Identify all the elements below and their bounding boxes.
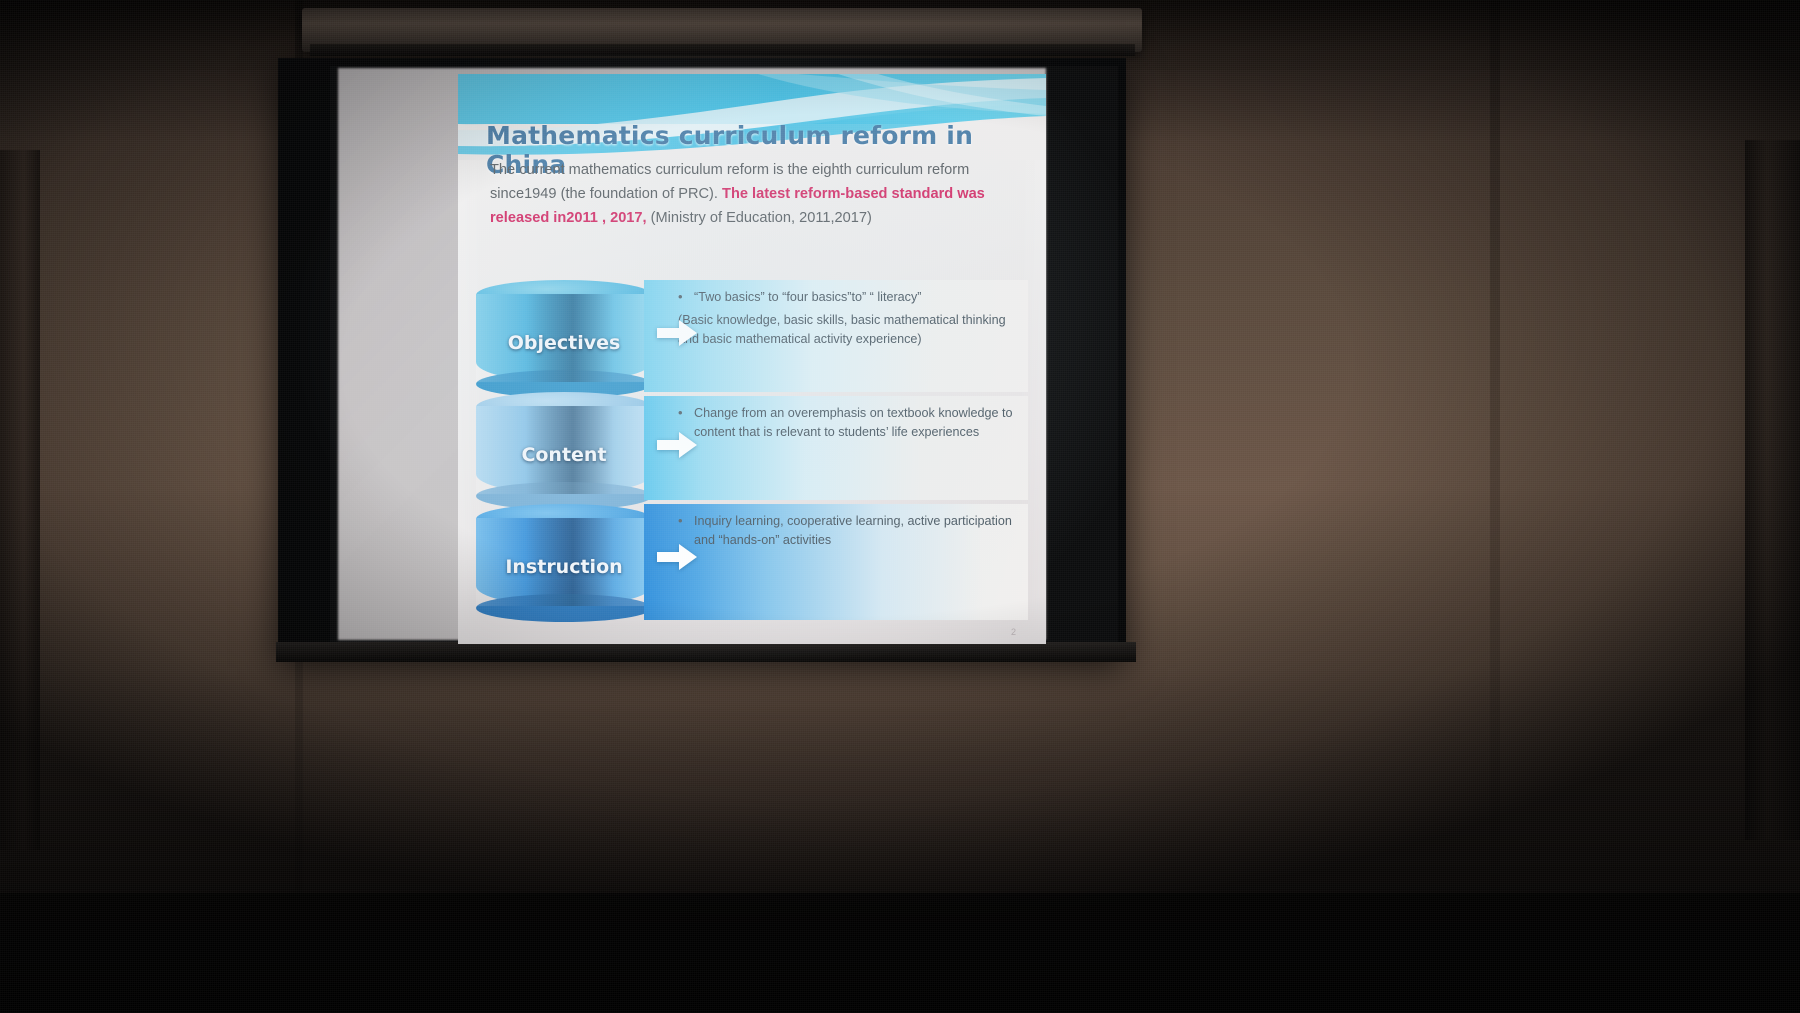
cylinder-instruction: Instruction xyxy=(476,504,652,612)
diagram-row-objectives: Objectives “Two basics” to “four basics”… xyxy=(458,280,1046,398)
presentation-slide: Mathematics curriculum reform in China T… xyxy=(458,74,1046,644)
bullet-item: “Two basics” to “four basics”to” “ liter… xyxy=(678,288,1016,307)
wall-panel-left xyxy=(0,150,40,850)
slide-intro-paragraph: The current mathematics curriculum refor… xyxy=(490,158,1010,230)
right-arrow-icon xyxy=(654,310,700,356)
projector-screen-housing-lip xyxy=(310,44,1135,56)
cylinder-label: Instruction xyxy=(476,556,652,578)
bullet-item: Inquiry learning, cooperative learning, … xyxy=(678,512,1016,550)
text-panel-content: Change from an overemphasis on textbook … xyxy=(644,396,1028,500)
cylinder-content: Content xyxy=(476,392,652,500)
panel-continuation-text: (Basic knowledge, basic skills, basic ma… xyxy=(678,311,1016,349)
bullet-item: Change from an overemphasis on textbook … xyxy=(678,404,1016,442)
diagram-row-instruction: Instruction Inquiry learning, cooperativ… xyxy=(458,504,1046,634)
projection-screen-bottom-bar xyxy=(276,642,1136,662)
cylinder-objectives: Objectives xyxy=(476,280,652,388)
right-arrow-icon xyxy=(654,534,700,580)
right-arrow-icon xyxy=(654,422,700,468)
wall-panel-right xyxy=(1745,140,1800,840)
diagram-row-content: Content Change from an overemphasis on t… xyxy=(458,392,1046,510)
wall-seam-right xyxy=(1490,0,1500,1013)
text-panel-objectives: “Two basics” to “four basics”to” “ liter… xyxy=(644,280,1028,392)
floor-shadow xyxy=(0,893,1800,1013)
cylinder-label: Content xyxy=(476,444,652,466)
projector-room-photo: Mathematics curriculum reform in China T… xyxy=(0,0,1800,1013)
cylinder-label: Objectives xyxy=(476,332,652,354)
slide-number: 2 xyxy=(1011,627,1016,637)
intro-text-part2: (Ministry of Education, 2011,2017) xyxy=(647,210,872,226)
text-panel-instruction: Inquiry learning, cooperative learning, … xyxy=(644,504,1028,620)
